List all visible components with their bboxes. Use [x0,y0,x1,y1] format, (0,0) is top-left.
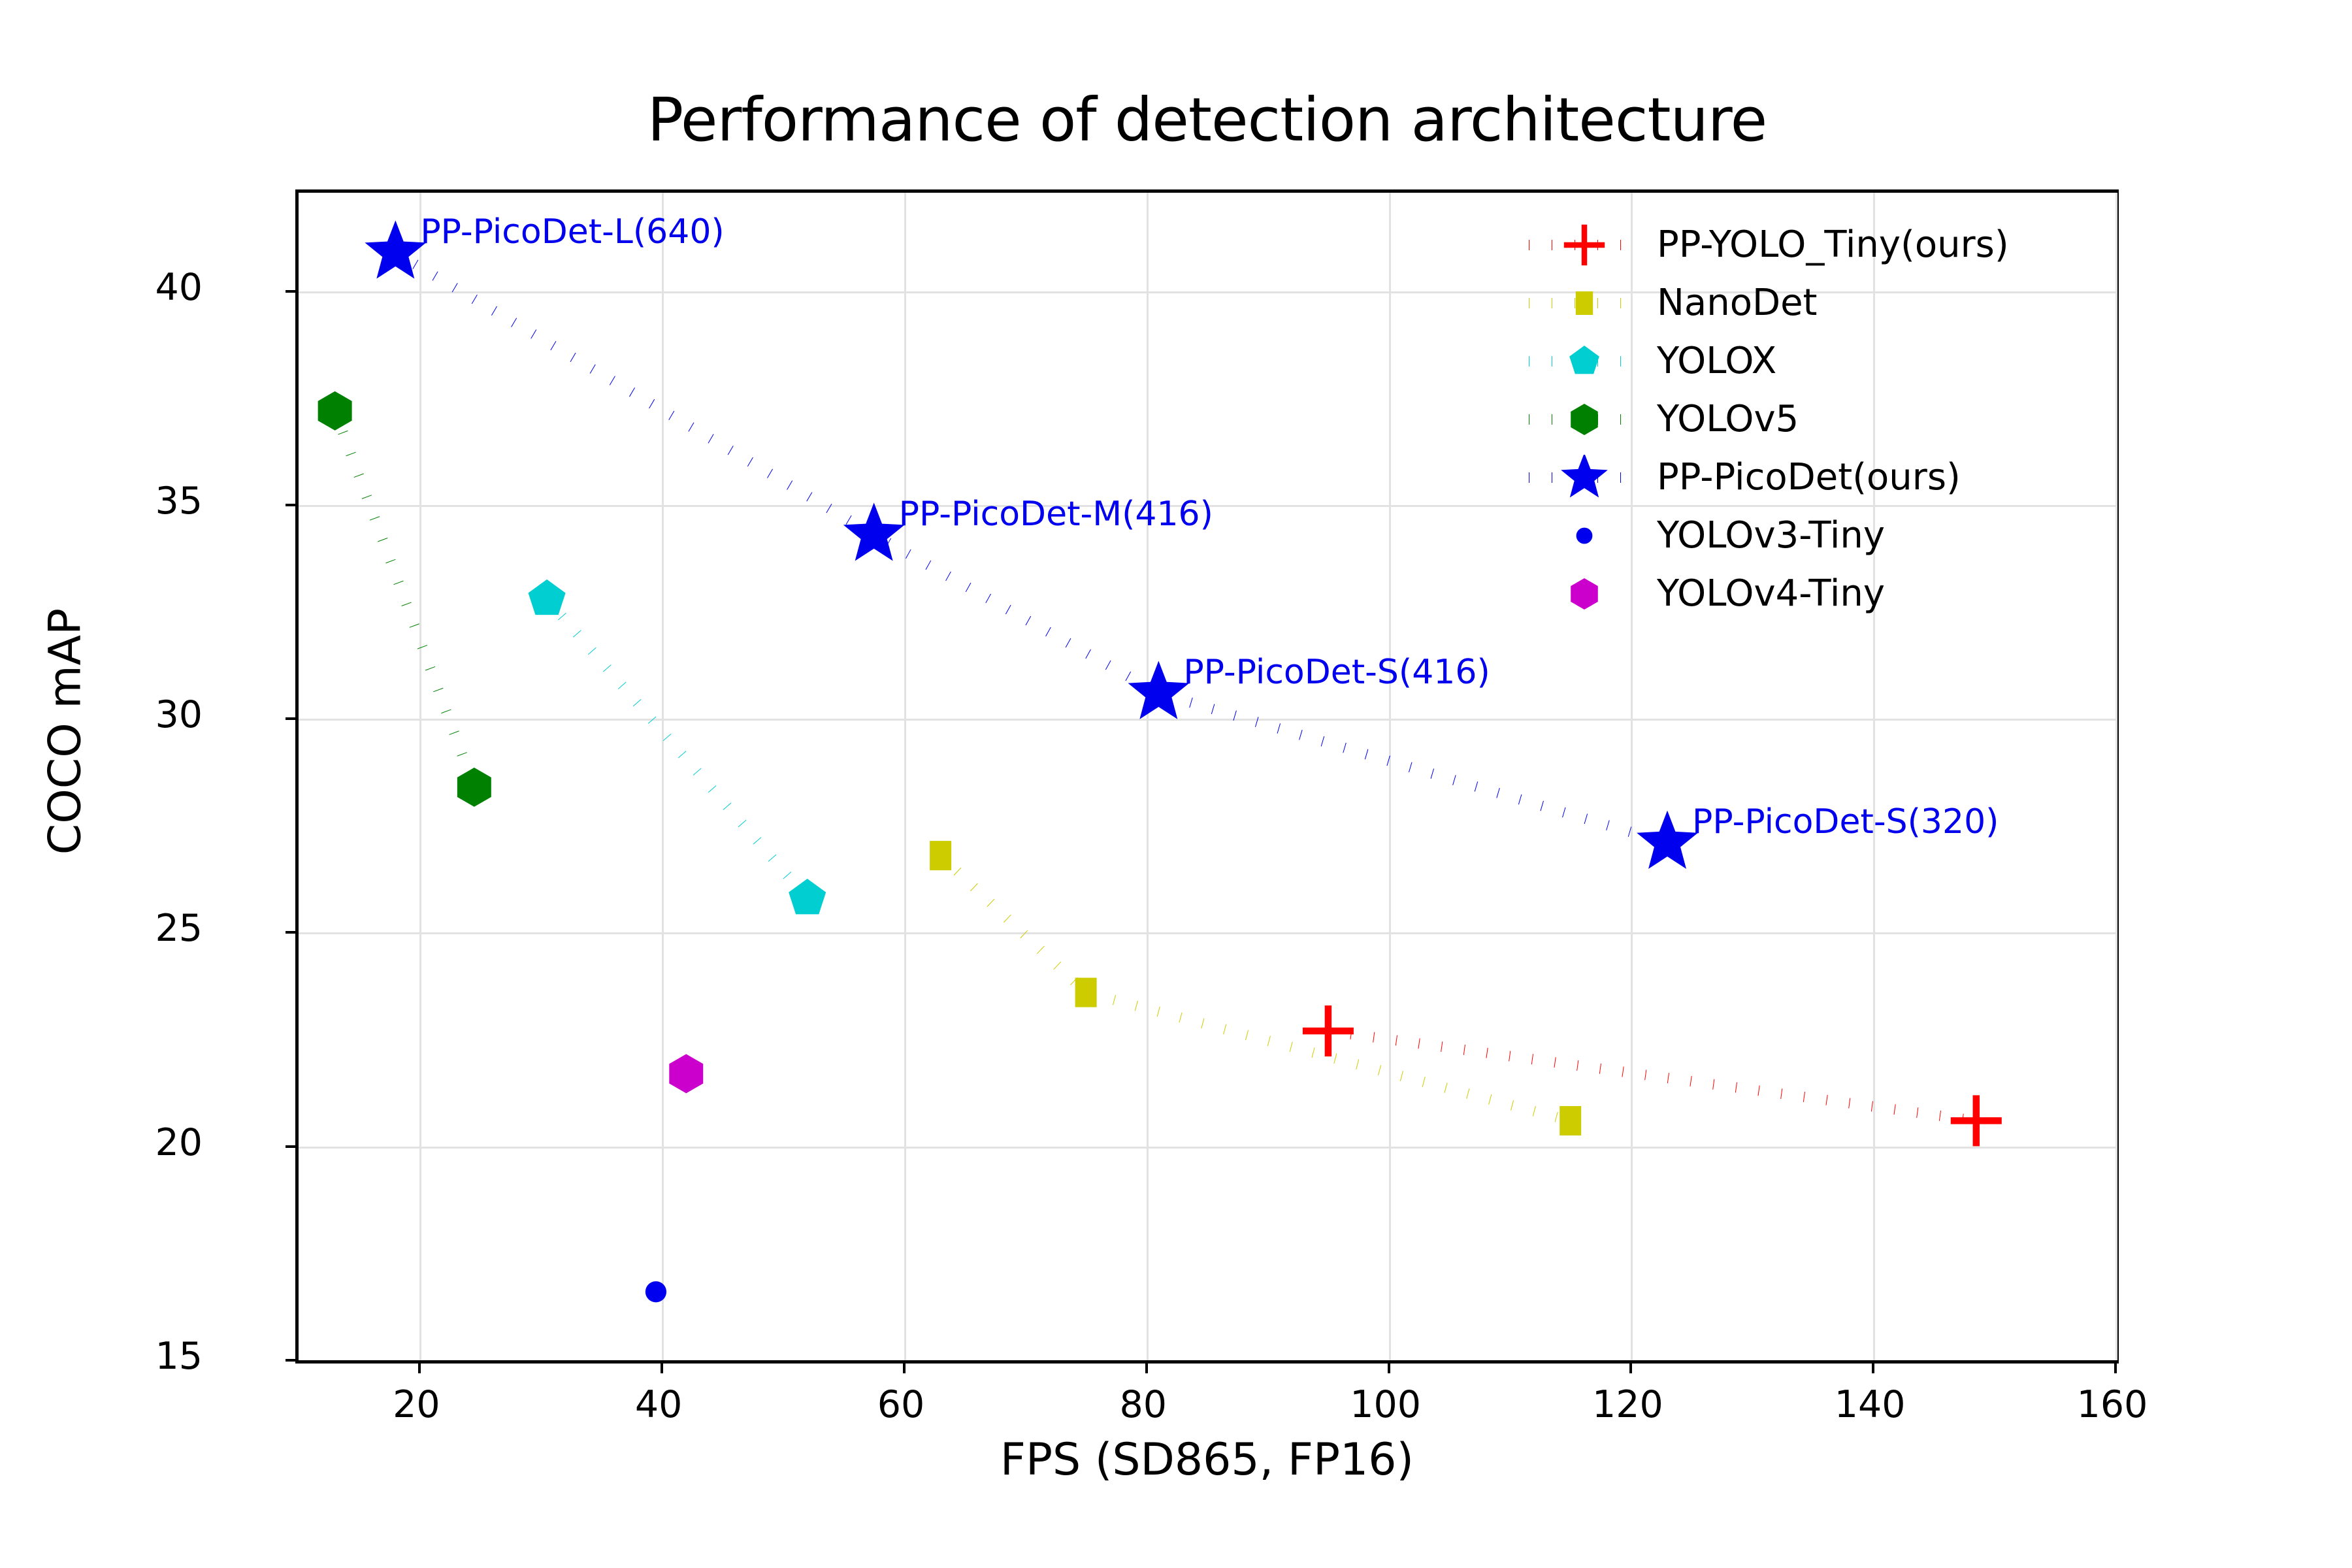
legend-marker-icon [1571,404,1598,435]
data-point-marker [1128,661,1189,719]
legend-item[interactable]: YOLOv5 [1522,390,2097,448]
gridline-horizontal [299,719,2115,721]
series-line [941,856,1571,1121]
chart-figure: Performance of detection architecture PP… [0,0,2352,1568]
y-tick-mark [286,1145,299,1148]
chart-title: Performance of detection architecture [295,85,2119,155]
legend-item[interactable]: YOLOv3-Tiny [1522,506,2097,564]
legend-marker-pentagon-icon [1522,338,1646,384]
legend-label: YOLOX [1646,340,1776,382]
x-tick-mark [2114,1360,2117,1373]
series-line [1328,1031,1976,1120]
x-tick-mark [661,1360,663,1373]
legend-label: YOLOv3-Tiny [1646,514,1885,557]
x-axis-label: FPS (SD865, FP16) [295,1434,2119,1486]
legend-marker-circle-icon [1522,513,1646,559]
gridline-vertical [1147,193,1149,1360]
gridline-horizontal [299,1147,2115,1149]
x-tick-mark [1388,1360,1390,1373]
y-tick-mark [286,717,299,720]
data-point-marker [843,502,905,561]
point-annotation-label: PP-PicoDet-M(416) [899,495,1213,534]
legend-marker-square-icon [1522,280,1646,326]
legend-item[interactable]: YOLOX [1522,332,2097,390]
y-axis-label: COCO mAP [40,405,91,1058]
data-point-marker [1560,1106,1581,1135]
legend-marker-icon [1569,346,1599,374]
point-annotation-label: PP-PicoDet-S(416) [1183,653,1490,692]
legend-label: NanoDet [1646,282,1818,324]
y-tick-mark [286,1359,299,1362]
legend-marker-icon [1576,527,1593,544]
legend-marker-star-icon [1522,455,1646,500]
x-tick-label: 40 [593,1383,724,1426]
legend-marker-plus-icon [1522,222,1646,268]
y-tick-label: 15 [72,1335,203,1378]
data-point-marker [1637,811,1698,869]
data-point-marker [1303,1005,1354,1056]
legend-marker-icon [1564,224,1605,265]
data-point-marker [669,1054,703,1093]
chart-legend: PP-YOLO_Tiny(ours)NanoDetYOLOXYOLOv5PP-P… [1522,216,2097,623]
gridline-vertical [2115,193,2117,1360]
gridline-vertical [1389,193,1391,1360]
gridline-vertical [419,193,421,1360]
legend-marker-hexagon-icon [1522,397,1646,442]
data-point-marker [318,391,352,431]
series-line [547,599,808,898]
gridline-vertical [662,193,664,1360]
legend-marker-hexagon-icon [1522,571,1646,617]
legend-label: YOLOv5 [1646,398,1799,440]
x-tick-mark [1145,1360,1148,1373]
data-point-marker [457,768,491,807]
legend-label: YOLOv4-Tiny [1646,572,1885,615]
x-tick-label: 140 [1805,1383,1935,1426]
point-annotation-label: PP-PicoDet-L(640) [420,212,724,252]
data-point-marker [789,879,826,914]
data-point-marker [365,220,426,278]
legend-label: PP-YOLO_Tiny(ours) [1646,223,2009,266]
x-tick-mark [1629,1360,1632,1373]
x-tick-label: 160 [2047,1383,2178,1426]
x-tick-label: 100 [1320,1383,1451,1426]
y-tick-label: 35 [72,480,203,523]
gridline-horizontal [299,932,2115,934]
data-point-marker [529,580,566,615]
x-tick-label: 120 [1562,1383,1693,1426]
legend-item[interactable]: PP-PicoDet(ours) [1522,448,2097,506]
y-tick-label: 25 [72,907,203,950]
legend-item[interactable]: YOLOv4-Tiny [1522,564,2097,623]
legend-item[interactable]: NanoDet [1522,274,2097,332]
data-point-marker [1951,1095,2002,1146]
legend-label: PP-PicoDet(ours) [1646,456,1961,498]
legend-item[interactable]: PP-YOLO_Tiny(ours) [1522,216,2097,274]
legend-marker-icon [1561,455,1608,498]
point-annotation-label: PP-PicoDet-S(320) [1692,802,1999,841]
y-tick-label: 20 [72,1121,203,1164]
series-line [395,253,1667,843]
legend-marker-icon [1571,578,1598,610]
y-tick-label: 30 [72,693,203,736]
x-tick-label: 80 [1078,1383,1209,1426]
x-tick-label: 20 [351,1383,482,1426]
y-tick-mark [286,504,299,506]
legend-marker-icon [1576,291,1593,315]
y-tick-mark [286,931,299,934]
y-tick-mark [286,290,299,293]
x-tick-mark [1872,1360,1874,1373]
x-tick-mark [903,1360,906,1373]
gridline-vertical [904,193,906,1360]
data-point-marker [930,841,951,870]
series-line [335,411,474,787]
x-tick-mark [418,1360,421,1373]
x-tick-label: 60 [836,1383,966,1426]
y-tick-label: 40 [72,266,203,309]
data-point-marker [1075,978,1097,1007]
